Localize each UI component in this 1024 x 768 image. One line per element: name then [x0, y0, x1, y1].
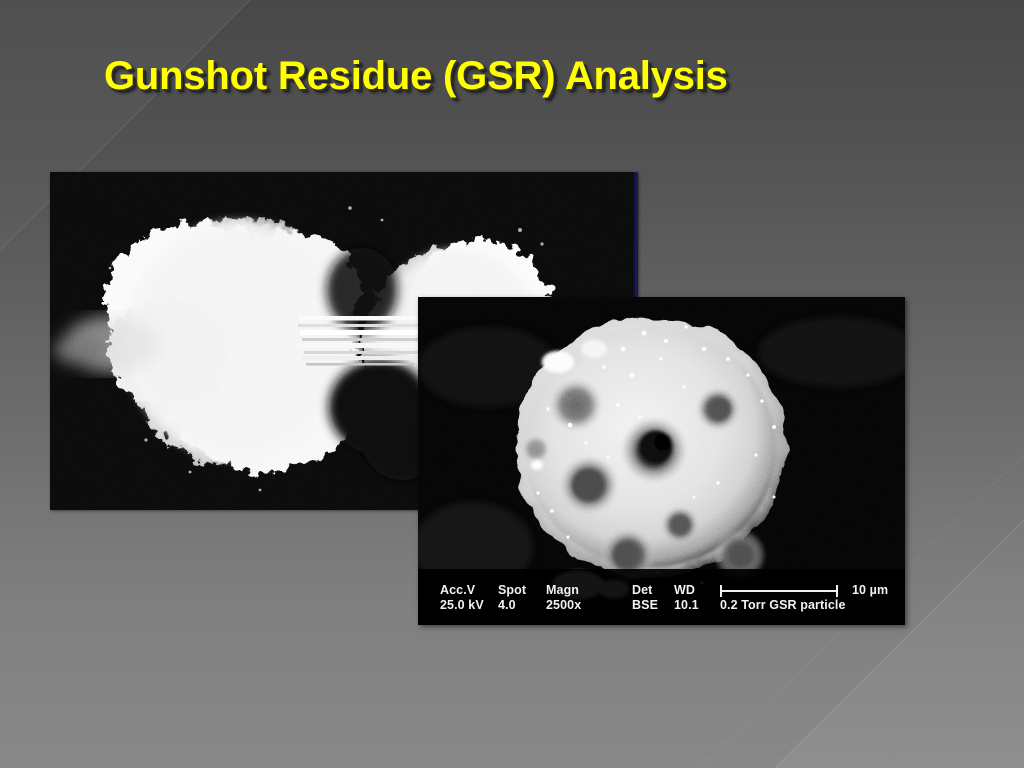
sem-databar-header-row: Acc.V Spot Magn Det WD 10 µm: [440, 583, 890, 598]
scale-bar-label: 10 µm: [852, 583, 888, 598]
databar-value-det: BSE: [632, 598, 674, 613]
title-block: Gunshot Residue (GSR) Analysis: [104, 45, 924, 107]
databar-label-det: Det: [632, 583, 674, 598]
databar-value-note: 0.2 Torr GSR particle: [720, 598, 846, 613]
sem-image-content: [418, 297, 905, 625]
databar-label-magn: Magn: [546, 583, 632, 598]
databar-value-accv: 25.0 kV: [440, 598, 498, 613]
page-title: Gunshot Residue (GSR) Analysis: [104, 45, 924, 107]
databar-value-magn: 2500x: [546, 598, 632, 613]
scale-bar-tick-right: [836, 585, 838, 597]
scale-bar-line: [720, 590, 838, 592]
sem-databar-value-row: 25.0 kV 4.0 2500x BSE 10.1 0.2 Torr GSR …: [440, 598, 890, 613]
sem-databar: Acc.V Spot Magn Det WD 10 µm 25.0 kV 4.0…: [440, 583, 890, 613]
databar-label-spot: Spot: [498, 583, 546, 598]
databar-label-wd: WD: [674, 583, 720, 598]
databar-value-wd: 10.1: [674, 598, 720, 613]
databar-value-spot: 4.0: [498, 598, 546, 613]
scale-bar: [720, 585, 838, 596]
sem-gsr-particle-micrograph: Acc.V Spot Magn Det WD 10 µm 25.0 kV 4.0…: [418, 297, 905, 625]
databar-label-accv: Acc.V: [440, 583, 498, 598]
presentation-slide: Gunshot Residue (GSR) Analysis: [0, 0, 1024, 768]
